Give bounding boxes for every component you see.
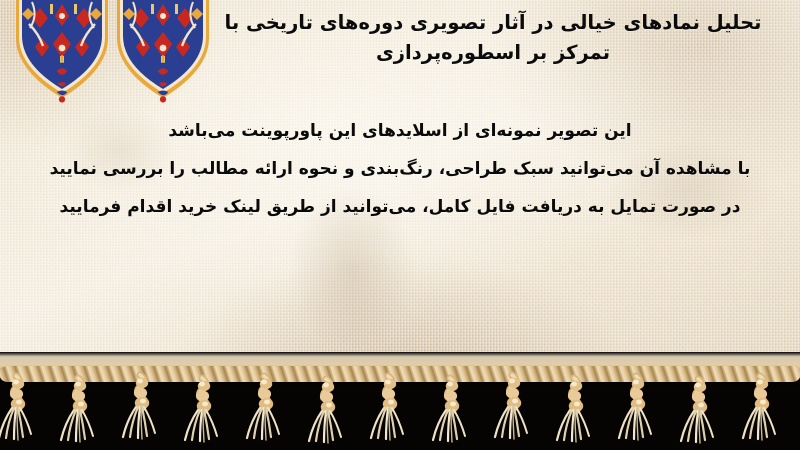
- carpet-fringe: [0, 352, 800, 450]
- fringe-tassels-svg: [0, 352, 800, 450]
- slide-body-line-1: این تصویر نمونه‌ای از اسلایدهای این پاور…: [0, 112, 800, 150]
- slide-body-line-2: با مشاهده آن می‌توانید سبک طراحی، رنگ‌بن…: [0, 150, 800, 188]
- slide-canvas: تحلیل نمادهای خیالی در آثار تصویری دوره‌…: [0, 0, 800, 450]
- slide-title: تحلیل نمادهای خیالی در آثار تصویری دوره‌…: [204, 8, 782, 68]
- slide-title-line-2: بر اسطوره‌پردازی: [376, 41, 547, 64]
- slide-body: این تصویر نمونه‌ای از اسلایدهای این پاور…: [0, 112, 800, 226]
- slide-body-line-3: در صورت تمایل به دریافت فایل کامل، می‌تو…: [0, 188, 800, 226]
- tassel-row: [0, 375, 775, 443]
